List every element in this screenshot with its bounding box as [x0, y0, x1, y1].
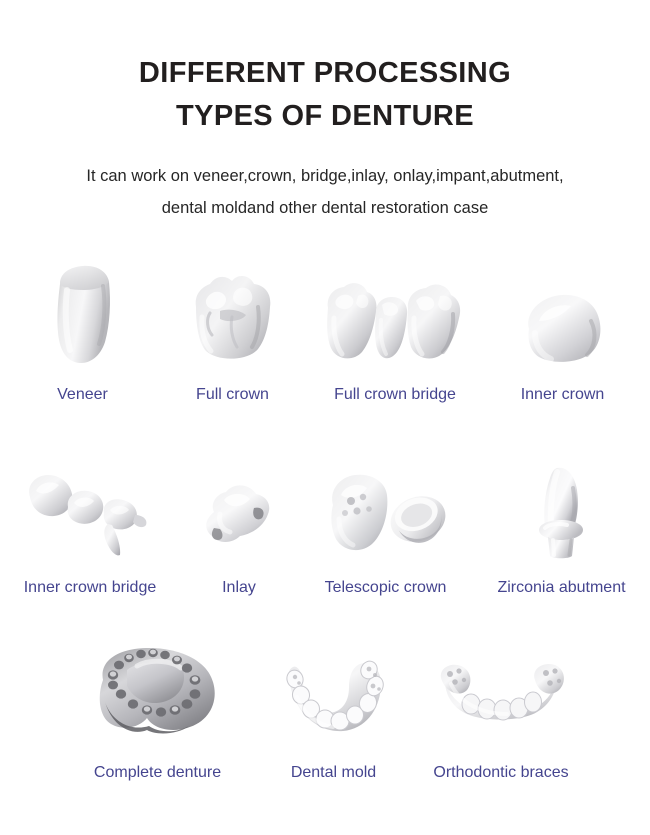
- page-header: DIFFERENT PROCESSING TYPES OF DENTURE: [0, 52, 650, 138]
- product-item-telescopic-crown: Telescopic crown: [298, 467, 473, 598]
- product-label: Dental mold: [291, 763, 376, 783]
- product-label: Zirconia abutment: [497, 578, 625, 598]
- product-item-inner-crown: Inner crown: [483, 287, 643, 405]
- page-subtitle-line-1: It can work on veneer,crown, bridge,inla…: [0, 160, 650, 192]
- dental-mold-arch-icon: [269, 653, 399, 745]
- orthodontic-braces-icon: [431, 660, 571, 745]
- page-subtitle: It can work on veneer,crown, bridge,inla…: [0, 160, 650, 224]
- product-row-3: Complete denture: [0, 640, 650, 783]
- product-row-1: Veneer: [0, 262, 650, 405]
- full-crown-molar-icon: [180, 267, 285, 367]
- product-label: Inner crown: [521, 385, 605, 405]
- product-item-inlay: Inlay: [180, 472, 298, 598]
- infographic-page: DIFFERENT PROCESSING TYPES OF DENTURE It…: [0, 0, 650, 835]
- product-label: Inner crown bridge: [24, 578, 157, 598]
- product-item-veneer: Veneer: [8, 262, 158, 405]
- product-label: Veneer: [57, 385, 108, 405]
- zirconia-abutment-icon: [517, 462, 607, 562]
- product-item-full-crown-bridge: Full crown bridge: [308, 272, 483, 405]
- product-item-inner-crown-bridge: Inner crown bridge: [0, 467, 180, 598]
- product-item-dental-mold: Dental mold: [254, 653, 414, 783]
- product-label: Full crown bridge: [334, 385, 456, 405]
- product-item-orthodontic-braces: Orthodontic braces: [414, 660, 589, 783]
- inner-crown-coping-icon: [513, 287, 613, 367]
- product-label: Telescopic crown: [325, 578, 447, 598]
- product-label: Complete denture: [94, 763, 221, 783]
- full-crown-bridge-icon: [320, 272, 470, 367]
- product-item-full-crown: Full crown: [158, 267, 308, 405]
- product-item-zirconia-abutment: Zirconia abutment: [473, 462, 650, 598]
- veneer-tooth-icon: [43, 262, 123, 367]
- product-row-2: Inner crown bridge: [0, 462, 650, 598]
- complete-denture-icon: [83, 640, 233, 745]
- product-label: Orthodontic braces: [433, 763, 568, 783]
- page-subtitle-line-2: dental moldand other dental restoration …: [0, 192, 650, 224]
- page-title-line-1: DIFFERENT PROCESSING: [0, 52, 650, 95]
- telescopic-crown-icon: [323, 467, 448, 562]
- page-title-line-2: TYPES OF DENTURE: [0, 95, 650, 138]
- product-item-complete-denture: Complete denture: [62, 640, 254, 783]
- product-label: Inlay: [222, 578, 256, 598]
- product-label: Full crown: [196, 385, 269, 405]
- inner-crown-bridge-icon: [20, 467, 160, 562]
- inlay-fragment-icon: [192, 472, 287, 562]
